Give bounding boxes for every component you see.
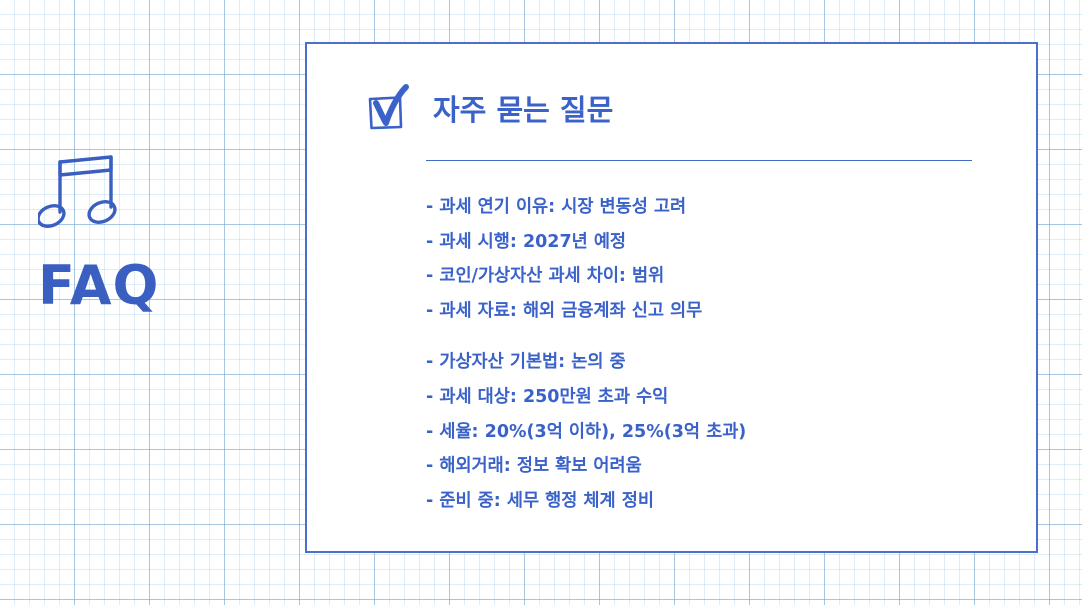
faq-logo-block: FAQ [38, 148, 238, 312]
list-item: - 코인/가상자산 과세 차이: 범위 [426, 259, 1006, 294]
list-item: - 과세 연기 이유: 시장 변동성 고려 [426, 190, 1006, 225]
card-header: 자주 묻는 질문 [363, 82, 613, 134]
slide-background: FAQ 자주 묻는 질문 - 과세 연기 이유: 시장 변동성 고려 - 과세 … [0, 0, 1082, 605]
faq-card: 자주 묻는 질문 - 과세 연기 이유: 시장 변동성 고려 - 과세 시행: … [305, 42, 1038, 553]
faq-title: 자주 묻는 질문 [433, 87, 613, 129]
checkbox-check-icon [363, 82, 409, 134]
faq-group-2: - 가상자산 기본법: 논의 중 - 과세 대상: 250만원 초과 수익 - … [426, 345, 1006, 518]
list-item: - 해외거래: 정보 확보 어려움 [426, 449, 1006, 484]
title-divider [426, 160, 972, 161]
faq-list: - 과세 연기 이유: 시장 변동성 고려 - 과세 시행: 2027년 예정 … [426, 190, 1006, 518]
list-item: - 과세 자료: 해외 금융계좌 신고 의무 [426, 294, 1006, 329]
list-item: - 준비 중: 세무 행정 체계 정비 [426, 484, 1006, 519]
list-item: - 과세 대상: 250만원 초과 수익 [426, 380, 1006, 415]
list-item: - 과세 시행: 2027년 예정 [426, 225, 1006, 260]
list-item: - 세율: 20%(3억 이하), 25%(3억 초과) [426, 415, 1006, 450]
faq-wordmark: FAQ [38, 260, 238, 312]
faq-group-1: - 과세 연기 이유: 시장 변동성 고려 - 과세 시행: 2027년 예정 … [426, 190, 1006, 328]
music-note-icon [38, 148, 122, 238]
list-item: - 가상자산 기본법: 논의 중 [426, 345, 1006, 380]
